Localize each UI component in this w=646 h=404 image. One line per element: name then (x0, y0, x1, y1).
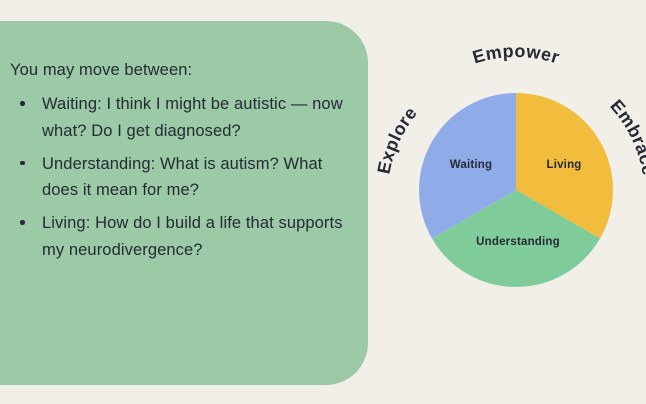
pie-slice-label-living: Living (546, 159, 581, 171)
ring-label-explore-text: Explore (374, 103, 421, 176)
ring-label-explore: Explore (374, 103, 421, 176)
info-card: You may move between: Waiting: I think I… (0, 21, 368, 385)
list-item: Understanding: What is autism? What does… (10, 151, 344, 204)
list-item: Waiting: I think I might be autistic — n… (10, 91, 344, 144)
list-item: Living: How do I build a life that suppo… (10, 210, 344, 263)
list-item-label: Living: How do I build a life that suppo… (42, 214, 343, 259)
pie-slice-label-waiting: Waiting (450, 159, 493, 171)
bullet-dot-icon (20, 101, 25, 106)
slide-canvas: You may move between: Waiting: I think I… (0, 0, 646, 404)
bullet-dot-icon (20, 220, 25, 225)
ring-label-embrace-text: Embrace (606, 96, 646, 177)
ring-label-empower: Empower (470, 41, 562, 68)
list-item-label: Understanding: What is autism? What does… (42, 155, 322, 200)
ring-label-empower-text: Empower (470, 41, 562, 68)
pie-slice-label-understanding: Understanding (476, 236, 560, 248)
pie-chart: Living Understanding Waiting Explore Emp… (368, 0, 646, 404)
bullet-dot-icon (20, 161, 25, 166)
list-item-label: Waiting: I think I might be autistic — n… (42, 95, 343, 140)
ring-label-embrace: Embrace (606, 96, 646, 177)
journey-stage-list: Waiting: I think I might be autistic — n… (10, 91, 344, 263)
card-intro-text: You may move between: (10, 59, 344, 81)
pie-chart-svg: Living Understanding Waiting Explore Emp… (368, 0, 646, 404)
